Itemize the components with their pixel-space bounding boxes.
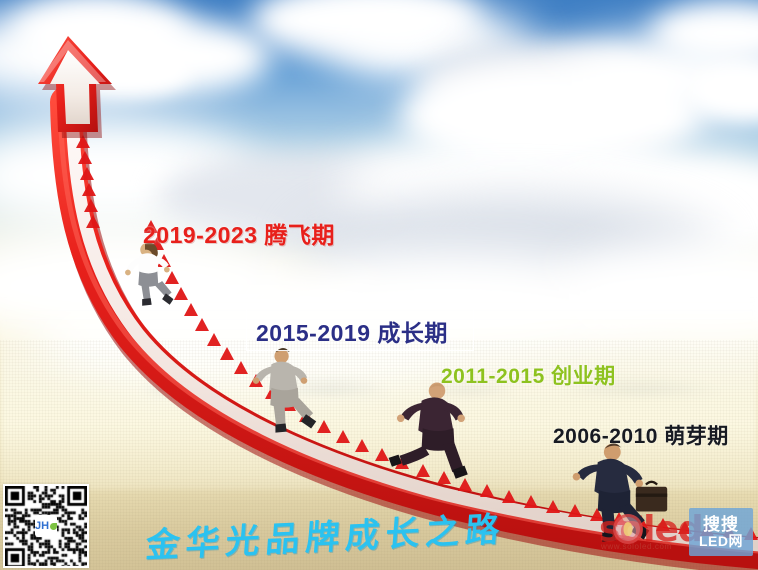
arrow-head [38, 36, 116, 138]
watermark-o-glyph [613, 514, 643, 544]
watermark-bulb-icon [624, 522, 633, 536]
site-watermark: soled www.sololed.com 搜搜 LED网 [597, 506, 755, 564]
watermark-badge: 搜搜 LED网 [689, 508, 753, 556]
stage-label-2011-2015: 2011-2015 创业期 [441, 360, 616, 390]
infographic-canvas: 2019-2023 腾飞期 2015-2019 成长期 2011-2015 创业… [0, 0, 758, 570]
qr-code-card[interactable]: JH [3, 484, 89, 568]
qr-logo-text: JH [35, 521, 49, 532]
leaf-icon [50, 523, 57, 530]
qr-center-logo: JH [35, 515, 57, 537]
stage-label-2019-2023: 2019-2023 腾飞期 [143, 216, 335, 250]
watermark-url: www.sololed.com [601, 542, 672, 551]
stage-label-2006-2010: 2006-2010 萌芽期 [553, 420, 729, 450]
rising-arrow-graphic [0, 0, 758, 570]
watermark-badge-cn: 搜搜 [703, 516, 739, 533]
runner-figure-1 [125, 243, 173, 306]
watermark-badge-en: LED网 [699, 534, 743, 548]
stage-label-2015-2019: 2015-2019 成长期 [256, 314, 448, 348]
